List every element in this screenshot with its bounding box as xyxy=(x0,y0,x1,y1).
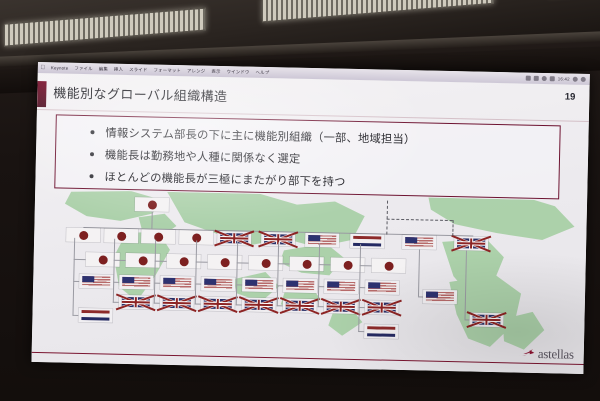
light-fixture-center xyxy=(262,0,494,22)
bullet-dot-icon xyxy=(90,130,94,134)
bluetooth-icon[interactable] xyxy=(542,76,547,81)
connector xyxy=(113,282,119,283)
menu-item-view[interactable]: 表示 xyxy=(208,68,223,74)
flag-node-uk[interactable] xyxy=(160,296,194,311)
connector xyxy=(318,286,324,287)
flag-node-us[interactable] xyxy=(402,235,436,250)
connector xyxy=(113,239,115,303)
flag-node-uk[interactable] xyxy=(242,298,276,313)
menu-item-edit[interactable]: 編集 xyxy=(96,66,111,72)
connector xyxy=(318,306,324,307)
bullet-dot-icon xyxy=(89,174,93,178)
menu-item-format[interactable]: フォーマット xyxy=(150,67,184,74)
netherlands-flag-icon xyxy=(367,326,395,337)
japan-flag-icon xyxy=(129,255,157,266)
dashed-connector xyxy=(452,220,453,236)
connector xyxy=(195,283,201,284)
org-chart xyxy=(32,189,587,359)
bullet-text: 機能長は勤務地や人種に関係なく選定 xyxy=(105,146,301,166)
menu-item-slide[interactable]: スライド xyxy=(126,66,151,73)
connector xyxy=(154,283,160,284)
usa-flag-icon xyxy=(286,280,314,291)
uk-flag-icon xyxy=(457,238,485,249)
connector xyxy=(236,241,238,305)
flag-node-us[interactable] xyxy=(324,279,358,294)
light-fixture-left xyxy=(4,7,206,46)
connector xyxy=(277,242,279,306)
uk-flag-icon xyxy=(327,301,355,312)
menu-item-arrange[interactable]: アレンジ xyxy=(184,68,209,75)
japan-flag-icon xyxy=(138,199,166,210)
japan-flag-icon xyxy=(334,259,362,270)
connector xyxy=(74,259,86,260)
connector xyxy=(360,265,372,266)
flag-node-jp[interactable] xyxy=(141,229,175,244)
flag-node-us[interactable] xyxy=(160,276,194,291)
connector xyxy=(418,249,420,296)
dashed-connector xyxy=(387,219,453,221)
flag-node-us[interactable] xyxy=(365,280,399,295)
dashed-connector xyxy=(386,201,388,235)
connector xyxy=(154,240,156,304)
flag-node-uk[interactable] xyxy=(454,236,488,251)
flag-node-us[interactable] xyxy=(423,289,457,304)
flag-node-nl[interactable] xyxy=(78,308,112,323)
japan-flag-icon xyxy=(144,231,172,242)
connector xyxy=(72,238,75,316)
flag-node-jp[interactable] xyxy=(104,228,138,243)
connector xyxy=(236,304,242,305)
projection-screen:  Keynote ファイル 編集 挿入 スライド フォーマット アレンジ 表示… xyxy=(31,62,589,374)
bullet-dot-icon xyxy=(90,152,94,156)
flag-node-us[interactable] xyxy=(201,277,235,292)
bullet-box: 情報システム部長の下に主に機能別組織（一部、地域担当） 機能長は勤務地や人種に関… xyxy=(54,114,560,199)
flag-node-nl[interactable] xyxy=(364,324,398,339)
connector xyxy=(318,243,320,307)
connector xyxy=(151,212,152,230)
flag-node-uk[interactable] xyxy=(119,295,153,310)
title-accent-bar xyxy=(37,81,47,107)
volume-icon[interactable] xyxy=(534,76,539,81)
menu-item-keynote[interactable]: Keynote xyxy=(48,65,72,71)
menu-item-file[interactable]: ファイル xyxy=(71,65,96,72)
flag-node-uk[interactable] xyxy=(469,312,503,327)
connector xyxy=(154,303,160,304)
astellas-logo: astellas xyxy=(519,346,574,363)
connector xyxy=(464,250,467,319)
menu-item-window[interactable]: ウインドウ xyxy=(224,69,253,76)
connector xyxy=(195,240,197,304)
connector xyxy=(72,315,78,316)
japan-flag-icon xyxy=(375,260,403,271)
connector xyxy=(236,284,242,285)
uk-flag-icon xyxy=(220,233,248,244)
spotlight-icon[interactable] xyxy=(573,77,578,82)
apple-menu-icon[interactable]:  xyxy=(38,64,48,70)
usa-flag-icon xyxy=(245,280,273,291)
menu-item-insert[interactable]: 挿入 xyxy=(111,66,126,72)
flag-node-uk[interactable] xyxy=(365,300,399,315)
japan-flag-icon xyxy=(293,259,321,270)
connector xyxy=(277,285,283,286)
flag-node-uk[interactable] xyxy=(217,231,251,246)
connector xyxy=(113,302,119,303)
connector xyxy=(358,331,364,332)
menu-bar-clock[interactable]: 16:42 xyxy=(558,76,570,81)
page-title: 機能別なグローバル組織構造 xyxy=(53,82,227,105)
japan-flag-icon xyxy=(170,256,198,267)
japan-flag-icon xyxy=(89,254,117,265)
connector xyxy=(359,307,365,308)
netherlands-flag-icon xyxy=(81,310,109,321)
page-number: 19 xyxy=(565,92,576,103)
uk-flag-icon xyxy=(286,300,314,311)
connector xyxy=(196,261,208,262)
usa-flag-icon xyxy=(308,235,336,246)
bullet-list: 情報システム部長の下に主に機能別組織（一部、地域担当） 機能長は勤務地や人種に関… xyxy=(89,121,415,194)
flag-node-jp[interactable] xyxy=(371,258,405,273)
uk-flag-icon xyxy=(122,297,150,308)
usa-flag-icon xyxy=(163,278,191,289)
usa-flag-icon xyxy=(426,292,454,303)
uk-flag-icon xyxy=(204,299,232,310)
org-chart-area xyxy=(32,189,587,359)
flag-node-us[interactable] xyxy=(242,278,276,293)
battery-icon[interactable] xyxy=(550,76,555,81)
usa-flag-icon xyxy=(327,281,355,292)
astellas-swoosh-icon xyxy=(519,348,536,359)
flag-node-jp-root[interactable] xyxy=(135,197,169,212)
menu-item-help[interactable]: ヘルプ xyxy=(252,69,272,75)
uk-flag-icon xyxy=(163,298,191,309)
connector xyxy=(359,287,365,288)
uk-flag-icon xyxy=(368,302,396,313)
netherlands-flag-icon xyxy=(353,236,381,247)
flag-node-uk[interactable] xyxy=(324,299,358,314)
usa-flag-icon xyxy=(204,279,232,290)
japan-flag-icon xyxy=(107,231,135,242)
japan-flag-icon xyxy=(252,258,280,269)
slide-canvas: 機能別なグローバル組織構造 19 情報システム部長の下に主に機能別組織（一部、地… xyxy=(31,73,589,374)
flag-node-us[interactable] xyxy=(119,275,153,290)
menu-bar-status[interactable]: 16:42 xyxy=(526,76,590,82)
flag-node-us[interactable] xyxy=(305,233,339,248)
usa-flag-icon xyxy=(405,237,433,248)
connector xyxy=(277,305,283,306)
usa-flag-icon xyxy=(122,277,150,288)
bullet-text: ほとんどの機能長が三極にまたがり部下を持つ xyxy=(104,168,345,189)
connector xyxy=(73,281,79,282)
uk-flag-icon xyxy=(472,315,500,326)
usa-flag-icon xyxy=(82,276,110,287)
usa-flag-icon xyxy=(368,282,396,293)
astellas-logo-text: astellas xyxy=(538,346,574,363)
uk-flag-icon xyxy=(245,300,273,311)
user-icon[interactable] xyxy=(581,77,586,82)
flag-node-uk[interactable] xyxy=(283,298,317,313)
flag-node-nl[interactable] xyxy=(350,234,384,249)
japan-flag-icon xyxy=(211,257,239,268)
flag-node-jp[interactable] xyxy=(66,228,100,243)
flag-node-us[interactable] xyxy=(79,274,113,289)
wifi-icon[interactable] xyxy=(526,76,531,81)
flag-node-uk[interactable] xyxy=(201,297,235,312)
flag-node-us[interactable] xyxy=(283,278,317,293)
connector xyxy=(195,303,201,304)
